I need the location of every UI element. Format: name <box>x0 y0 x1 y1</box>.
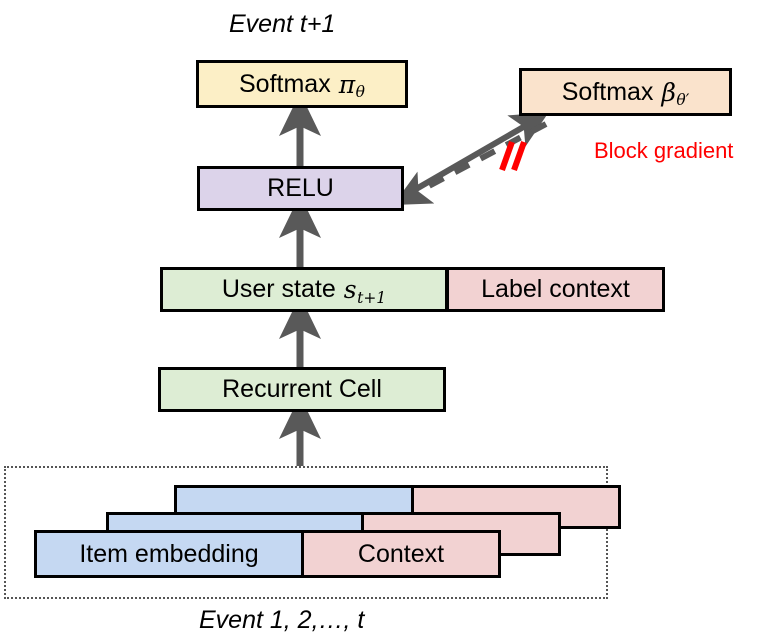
node-user-state[interactable]: User state st+1 <box>160 267 448 312</box>
node-relu-text: RELU <box>267 176 334 201</box>
event-layer-1-context-label: Context <box>358 540 444 569</box>
pi-glyph: π <box>339 70 355 99</box>
node-label-context[interactable]: Label context <box>446 267 665 312</box>
s-subscript: t+1 <box>357 289 386 307</box>
beta-subscript: θ′ <box>676 91 689 109</box>
node-softmax-beta[interactable]: Softmax βθ′ <box>519 68 732 116</box>
node-softmax-beta-text: Softmax <box>562 80 654 105</box>
node-relu[interactable]: RELU <box>197 166 404 211</box>
caption-event-next: Event t+1 <box>229 10 335 39</box>
node-label-context-text: Label context <box>481 277 630 302</box>
block-gradient-marker-icon <box>502 142 524 170</box>
node-recurrent-cell[interactable]: Recurrent Cell <box>158 367 446 412</box>
node-user-state-symbol: st+1 <box>344 277 386 302</box>
event-layer-1-context[interactable]: Context <box>301 530 501 578</box>
node-recurrent-cell-text: Recurrent Cell <box>222 377 382 402</box>
arrow-relu-to-softmax-beta <box>404 122 532 196</box>
s-glyph: s <box>344 275 357 304</box>
beta-glyph: β <box>661 78 675 107</box>
node-softmax-beta-symbol: βθ′ <box>661 80 689 105</box>
event-layer-1-item-label: Item embedding <box>79 540 258 569</box>
caption-event-history: Event 1, 2,…, t <box>199 606 364 635</box>
arrow-softmax-beta-to-relu-dashed <box>410 124 546 196</box>
event-layer-1-item-embedding[interactable]: Item embedding <box>34 530 304 578</box>
node-user-state-text: User state <box>222 277 336 302</box>
pi-subscript: θ <box>356 83 365 101</box>
node-softmax-policy[interactable]: Softmax πθ <box>196 60 408 108</box>
diagram-canvas: Event t+1 Event 1, 2,…, t Block gradient… <box>0 0 777 641</box>
block-gradient-label: Block gradient <box>594 138 733 164</box>
node-softmax-policy-text: Softmax <box>239 72 331 97</box>
node-softmax-policy-symbol: πθ <box>339 72 365 97</box>
